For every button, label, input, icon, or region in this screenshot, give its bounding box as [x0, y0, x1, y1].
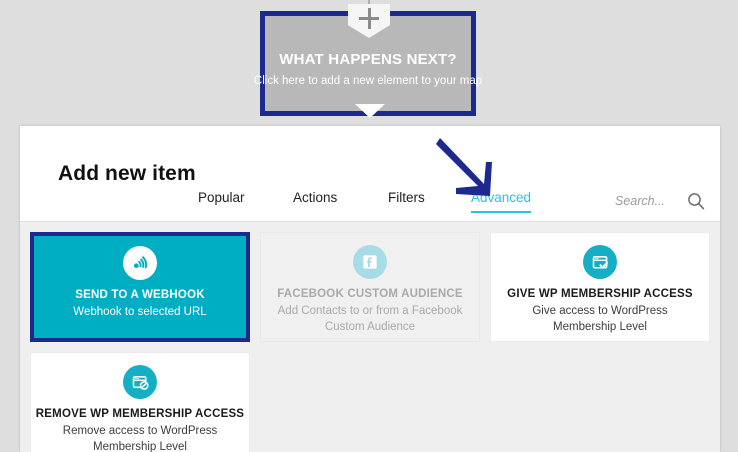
card-description: Give access to WordPress Membership Leve… — [506, 304, 694, 334]
window-ban-icon — [123, 365, 157, 399]
card-title: FACEBOOK CUSTOM AUDIENCE — [277, 287, 463, 301]
item-grid: SEND TO A WEBHOOK Webhook to selected UR… — [30, 232, 710, 452]
search-icon[interactable] — [687, 192, 705, 210]
tab-actions[interactable]: Actions — [293, 190, 337, 211]
card-description: Webhook to selected URL — [73, 305, 206, 320]
add-new-item-panel: Add new item Popular Actions Filters Adv… — [20, 126, 720, 452]
card-title: SEND TO A WEBHOOK — [75, 288, 204, 302]
search-input[interactable] — [615, 194, 677, 208]
search-area — [615, 192, 705, 210]
tab-filters[interactable]: Filters — [388, 190, 425, 211]
panel-pointer-notch-icon — [355, 104, 385, 118]
page-title: Add new item — [58, 162, 196, 186]
card-title: GIVE WP MEMBERSHIP ACCESS — [507, 287, 693, 301]
node-title: WHAT HAPPENS NEXT? — [279, 51, 457, 68]
flow-canvas: WHAT HAPPENS NEXT? Click here to add a n… — [0, 0, 738, 130]
card-title: REMOVE WP MEMBERSHIP ACCESS — [36, 407, 244, 421]
facebook-icon — [353, 245, 387, 279]
tab-advanced[interactable]: Advanced — [471, 190, 531, 213]
card-give-wp-membership-access[interactable]: GIVE WP MEMBERSHIP ACCESS Give access to… — [490, 232, 710, 342]
card-facebook-custom-audience[interactable]: FACEBOOK CUSTOM AUDIENCE Add Contacts to… — [260, 232, 480, 342]
plus-icon-vertical — [368, 8, 371, 29]
panel-header: Add new item Popular Actions Filters Adv… — [20, 126, 720, 222]
card-description: Add Contacts to or from a Facebook Custo… — [276, 304, 464, 334]
screen: WHAT HAPPENS NEXT? Click here to add a n… — [0, 0, 738, 452]
window-check-icon — [583, 245, 617, 279]
card-send-to-a-webhook[interactable]: SEND TO A WEBHOOK Webhook to selected UR… — [30, 232, 250, 342]
node-subtitle: Click here to add a new element to your … — [254, 75, 482, 87]
panel-body: SEND TO A WEBHOOK Webhook to selected UR… — [20, 222, 720, 452]
card-remove-wp-membership-access[interactable]: REMOVE WP MEMBERSHIP ACCESS Remove acces… — [30, 352, 250, 452]
card-description: Remove access to WordPress Membership Le… — [46, 424, 234, 452]
tab-popular[interactable]: Popular — [198, 190, 245, 211]
webhook-broadcast-icon — [123, 246, 157, 280]
